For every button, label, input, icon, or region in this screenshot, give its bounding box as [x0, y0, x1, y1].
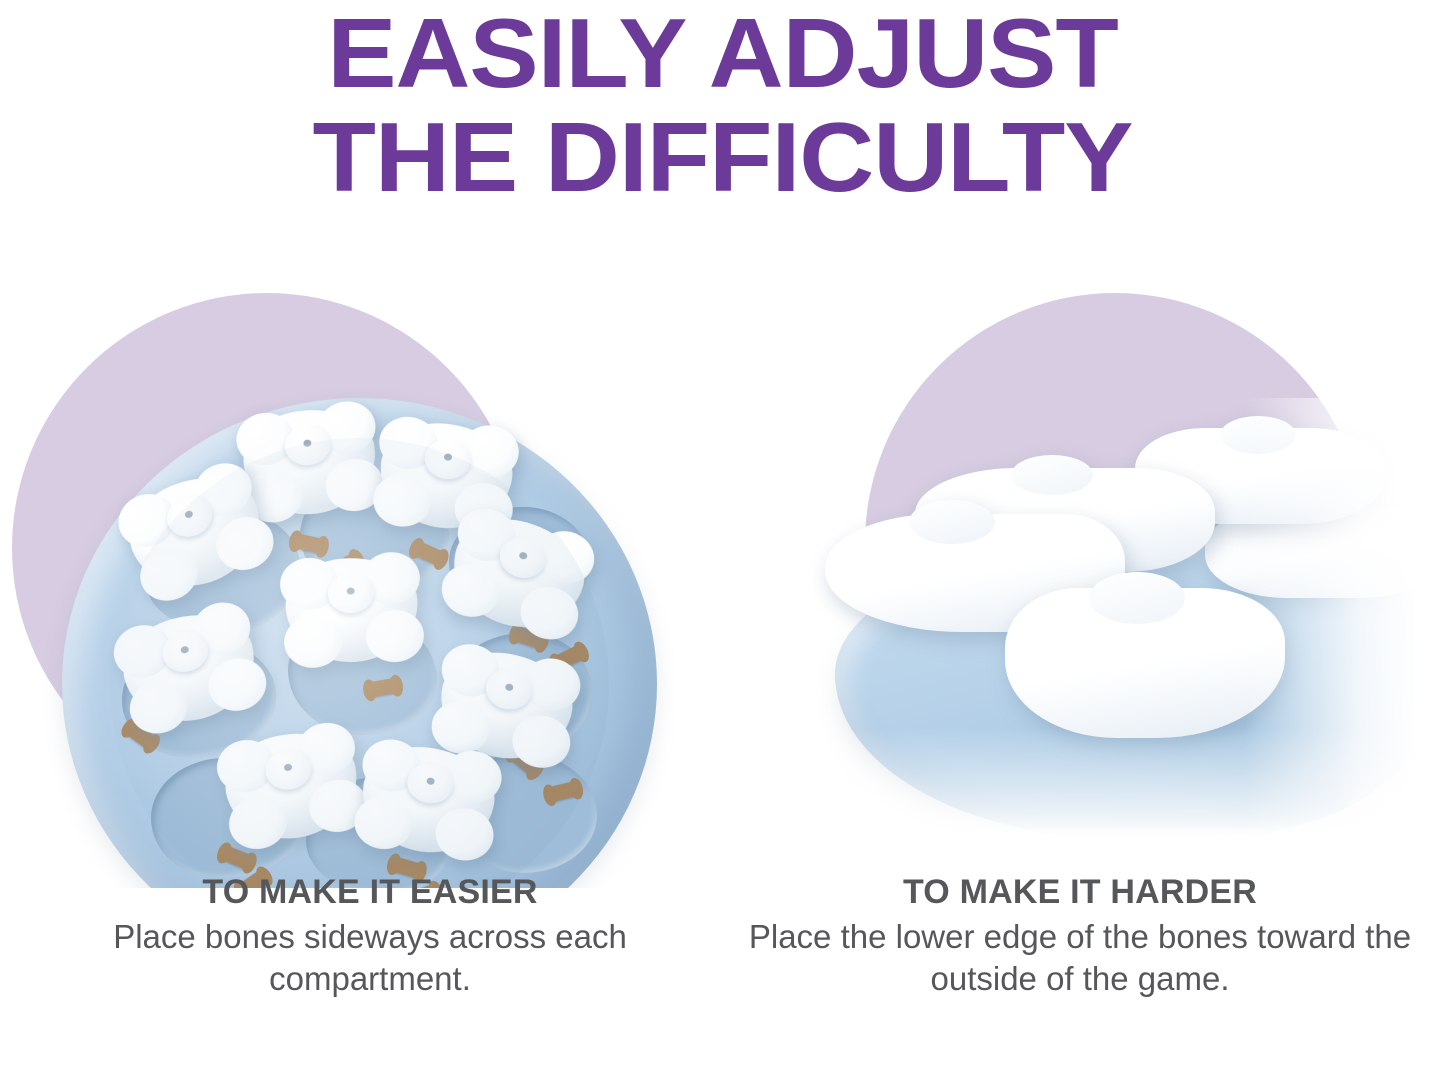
- kibble-treat: [509, 746, 542, 777]
- harder-caption-title: TO MAKE IT HARDER: [740, 872, 1420, 912]
- kibble-treat: [220, 845, 253, 870]
- easier-caption-title: TO MAKE IT EASIER: [30, 872, 710, 912]
- compartment-well: [145, 512, 300, 632]
- bone-cover[interactable]: [432, 643, 580, 768]
- bone-cover[interactable]: [1005, 588, 1285, 738]
- kibble-treat: [328, 552, 361, 580]
- bone-cover[interactable]: [375, 417, 517, 534]
- harder-caption: TO MAKE IT HARDER Place the lower edge o…: [740, 872, 1420, 1001]
- bone-cover[interactable]: [112, 600, 268, 736]
- compartment-well: [455, 753, 598, 873]
- kibble-treat: [512, 626, 545, 650]
- kibble-treat: [412, 541, 446, 567]
- bone-cover[interactable]: [283, 554, 422, 667]
- harder-product-artwork: [725, 268, 1445, 888]
- easier-caption-body: Place bones sideways across each compart…: [30, 916, 710, 1000]
- compartment-well: [449, 507, 592, 621]
- compartment-well: [122, 638, 277, 758]
- page-title: EASILY ADJUST THE DIFFICULTY: [0, 2, 1445, 210]
- easier-product-artwork: [0, 268, 720, 888]
- bone-cover[interactable]: [237, 401, 382, 522]
- kibble-treat: [164, 566, 197, 590]
- kibble-treat: [547, 781, 580, 803]
- kibble-treat: [124, 721, 157, 751]
- page-title-line-1: EASILY ADJUST: [0, 2, 1445, 106]
- compartment-well: [300, 478, 449, 592]
- kibble-treat: [552, 644, 586, 671]
- harder-panel: [725, 268, 1445, 888]
- infographic-root: EASILY ADJUST THE DIFFICULTY: [0, 0, 1445, 1084]
- page-title-line-2: THE DIFFICULTY: [0, 106, 1445, 210]
- harder-caption-body: Place the lower edge of the bones toward…: [740, 916, 1420, 1000]
- compartment-well: [449, 633, 592, 753]
- kibble-treat: [367, 678, 399, 698]
- kibble-treat: [293, 533, 325, 554]
- easier-panel: [0, 268, 720, 888]
- bone-cover[interactable]: [355, 739, 500, 860]
- bone-cover[interactable]: [217, 721, 368, 850]
- compartment-well: [151, 758, 306, 878]
- compartment-well: [288, 615, 437, 735]
- easier-caption: TO MAKE IT EASIER Place bones sideways a…: [30, 872, 710, 1001]
- puzzle-feeder-closeup: [805, 418, 1445, 838]
